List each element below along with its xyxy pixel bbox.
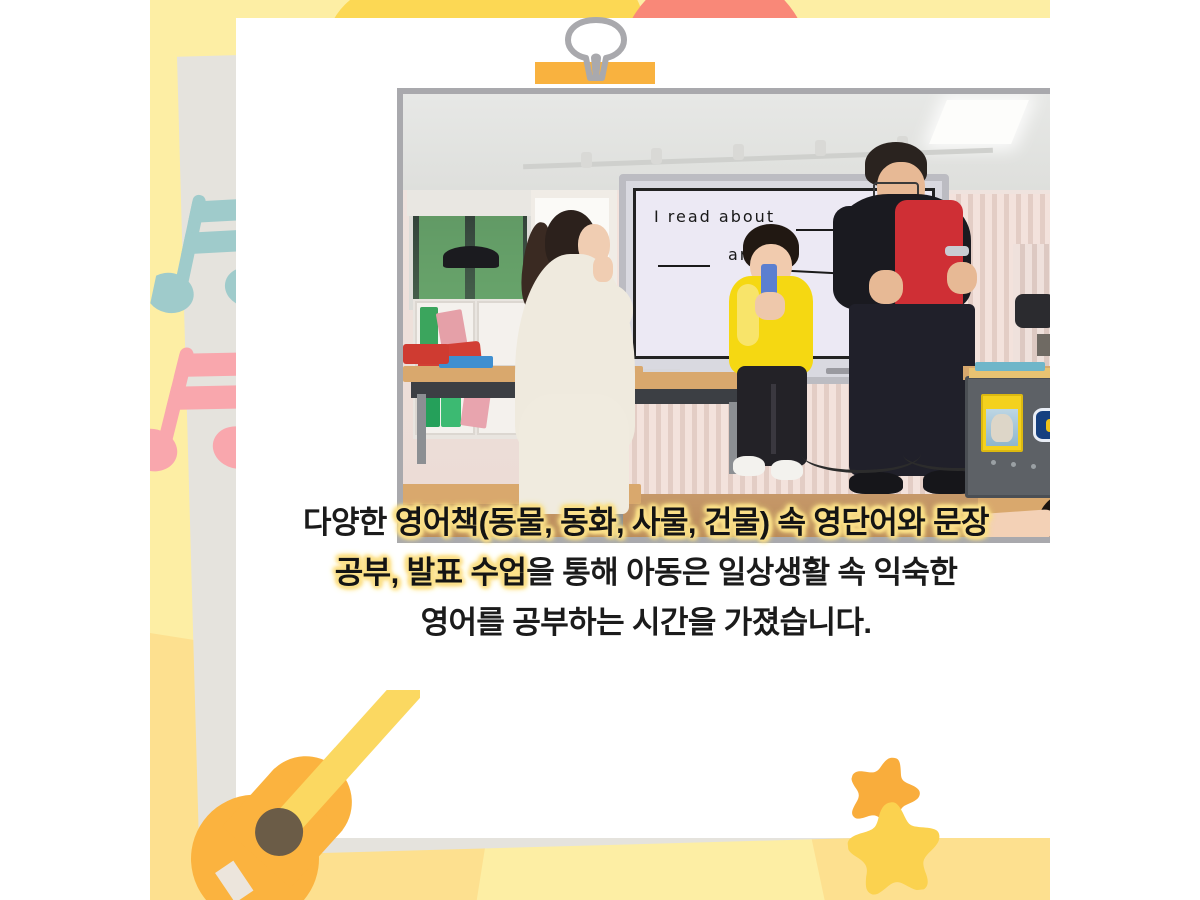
caption-line2-highlight: 공부, 발표 수업: [335, 555, 527, 590]
caption-line-3: 영어를 공부하는 시간을 가졌습니다.: [238, 598, 1050, 648]
acoustic-guitar-icon: [150, 690, 420, 900]
cart-sticker: [1033, 408, 1050, 442]
caption-block: 다양한 영어책(동물, 동화, 사물, 건물) 속 영단어와 문장 공부, 발표…: [238, 498, 1050, 649]
whiteboard-text-line1: I read about: [654, 207, 775, 226]
book-cover: [981, 394, 1023, 452]
star-icon-yellow: [843, 791, 949, 897]
caption-line-1: 다양한 영어책(동물, 동화, 사물, 건물) 속 영단어와 문장: [238, 498, 1050, 548]
poster-canvas: I read about are: [150, 0, 1050, 900]
teacher-red-shirt: [895, 200, 963, 314]
caption-line2-plain: 을 통해 아동은 일상생활 속 익숙한: [526, 555, 957, 590]
poster-stage: I read about are: [0, 0, 1200, 900]
caption-line-2: 공부, 발표 수업을 통해 아동은 일상생활 속 익숙한: [238, 548, 1050, 598]
caption-line1-plain: 다양한: [303, 505, 395, 540]
binder-clip-icon: [562, 14, 630, 90]
caption-line3-plain: 영어를 공부하는 시간을 가졌습니다.: [421, 605, 872, 640]
classroom-photo: I read about are: [397, 88, 1050, 543]
caption-line1-highlight: 영어책(동물, 동화, 사물, 건물) 속 영단어와 문장: [395, 505, 989, 540]
